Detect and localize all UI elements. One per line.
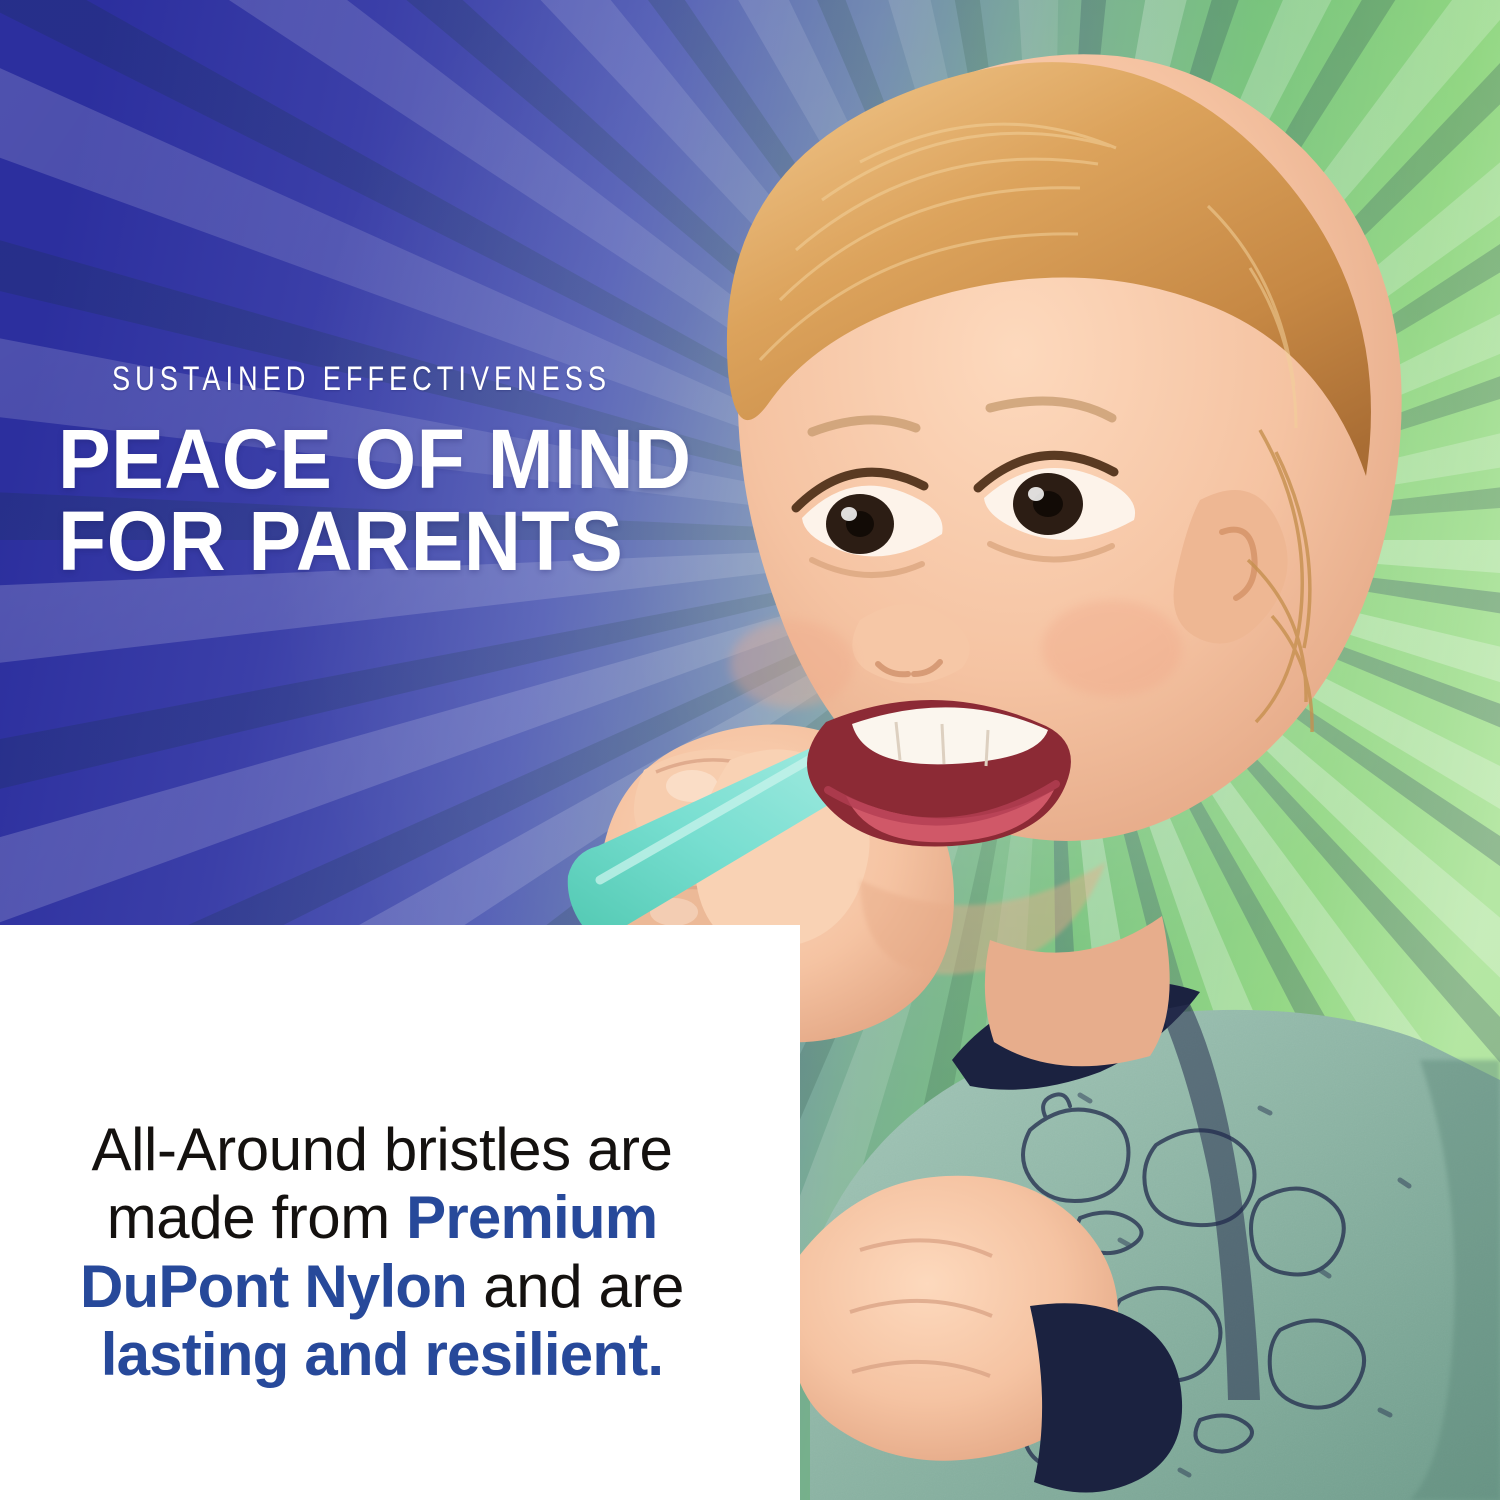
- body-copy-segment-3: lasting and resilient.: [101, 1321, 664, 1388]
- body-copy: All-Around bristles are made from Premiu…: [32, 1116, 732, 1390]
- marketing-banner: SUSTAINED EFFECTIVENESS PEACE OF MIND FO…: [0, 0, 1500, 1500]
- hero-headline: PEACE OF MIND FOR PARENTS: [58, 418, 735, 583]
- hero-eyebrow: SUSTAINED EFFECTIVENESS: [112, 362, 611, 396]
- hero-headline-line-2: FOR PARENTS: [58, 500, 735, 582]
- hero-headline-line-1: PEACE OF MIND: [58, 418, 735, 500]
- body-copy-segment-2: and are: [467, 1253, 684, 1320]
